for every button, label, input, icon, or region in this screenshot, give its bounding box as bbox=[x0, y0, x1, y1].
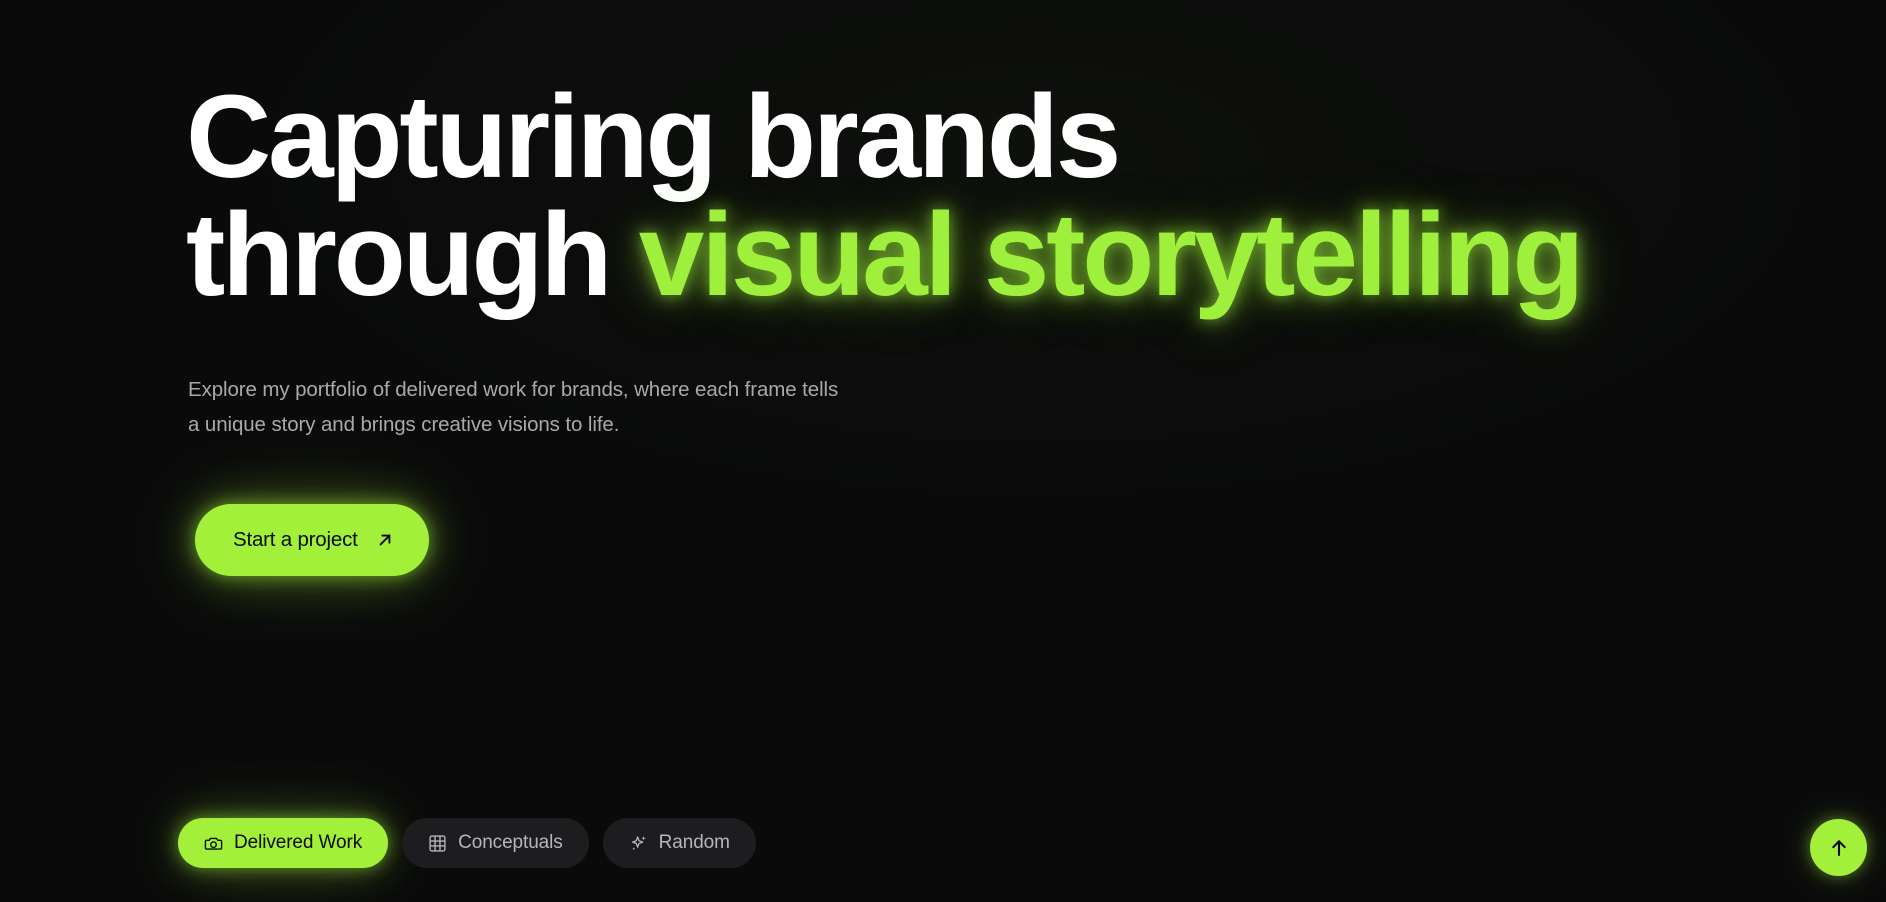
arrow-up-icon bbox=[1827, 836, 1851, 860]
arrow-up-right-icon bbox=[375, 530, 395, 550]
grid-icon bbox=[428, 834, 447, 853]
filter-chip-random[interactable]: Random bbox=[603, 818, 756, 868]
camera-icon bbox=[204, 834, 223, 853]
headline-line-1-text: Capturing brands bbox=[186, 71, 1118, 203]
hero-subtext-line-1: Explore my portfolio of delivered work f… bbox=[188, 372, 1068, 407]
page-title: Capturing brands through visual storytel… bbox=[186, 78, 1806, 314]
filter-chip-label: Conceptuals bbox=[458, 832, 563, 854]
headline-accent-text: visual storytelling bbox=[639, 189, 1582, 321]
filter-chip-delivered-work[interactable]: Delivered Work bbox=[178, 818, 388, 868]
hero-subtext-line-2: a unique story and brings creative visio… bbox=[188, 407, 1068, 442]
hero-subtext: Explore my portfolio of delivered work f… bbox=[188, 372, 1068, 442]
filter-chip-conceptuals[interactable]: Conceptuals bbox=[402, 818, 589, 868]
scroll-to-top-button[interactable] bbox=[1810, 819, 1867, 876]
filter-chip-label: Random bbox=[659, 832, 730, 854]
sparkles-icon bbox=[629, 834, 648, 853]
start-a-project-button[interactable]: Start a project bbox=[195, 504, 429, 576]
filter-chip-bar: Delivered Work Conceptuals Random bbox=[178, 818, 756, 868]
headline-line-2: through visual storytelling bbox=[186, 196, 1806, 314]
filter-chip-label: Delivered Work bbox=[234, 832, 362, 854]
cta-container: Start a project bbox=[195, 504, 429, 576]
headline-line-1: Capturing brands bbox=[186, 78, 1806, 196]
headline-line-2-plain: through bbox=[186, 189, 639, 321]
cta-label: Start a project bbox=[233, 528, 358, 552]
hero-section: Capturing brands through visual storytel… bbox=[0, 0, 1886, 902]
